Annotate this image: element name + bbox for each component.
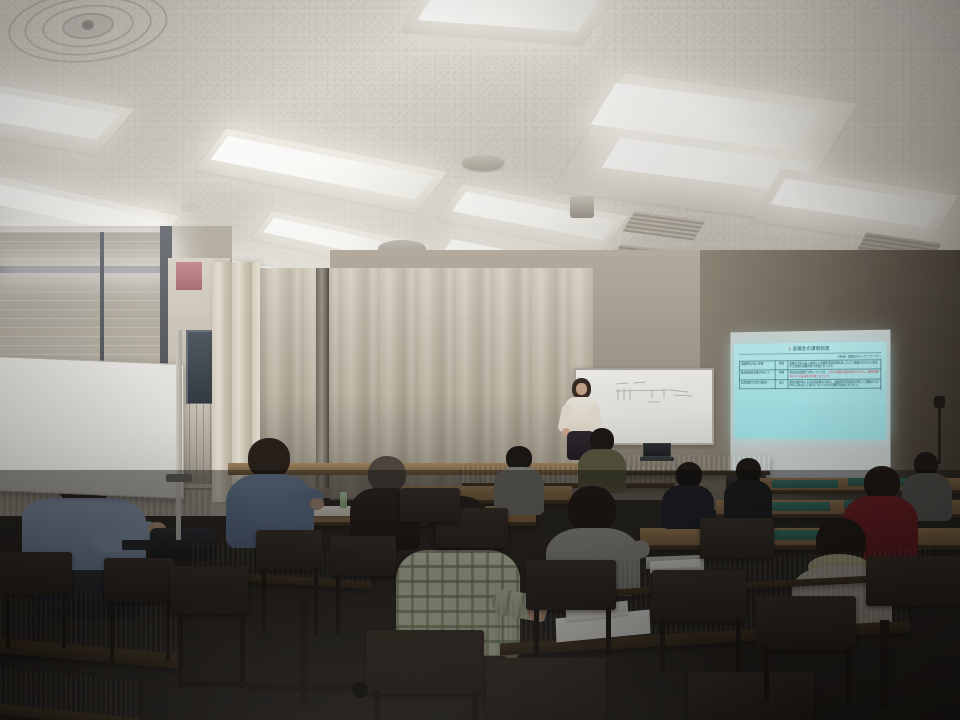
presentation-slide: 1 退職金の課税制度 （参考）国税庁タックスアンサー 退職所得の収入金額 原則 …	[734, 342, 886, 440]
whiteboard-handwriting	[612, 378, 707, 408]
microphone-icon	[934, 396, 945, 408]
seminar-room-photo: 1 退職金の課税制度 （参考）国税庁タックスアンサー 退職所得の収入金額 原則 …	[0, 0, 960, 720]
slide-page-number: 7	[739, 389, 881, 393]
exterior-shutter	[176, 262, 202, 290]
presenter-face	[576, 383, 587, 395]
slide-cell-tag: 改正	[775, 380, 788, 389]
slide-table: 退職所得の収入金額 原則 退職手当等の収入金額から退職所得控除額を差し引いた残額…	[739, 359, 881, 389]
window-frame	[0, 266, 172, 273]
slide-cell-label: 役員等勤続年数が5年以下	[739, 370, 775, 380]
slide-cell-body: 特定役員退職手当等については、 2分の1課税の適用はありません。勤続年数5年以下…	[788, 369, 881, 379]
slide-cell-label: 退職所得の収入金額	[739, 361, 775, 371]
slide-cell-tag: 特例	[775, 370, 788, 380]
slide-cell-tag: 原則	[775, 361, 788, 371]
panel-stand-pole	[176, 330, 182, 480]
slide-title-text: 退職金の課税制度	[793, 346, 830, 351]
laptop-base	[640, 457, 674, 461]
slide-title: 1 退職金の課税制度	[739, 345, 881, 355]
slide-cell-body: 勤続年数5年以下の短期退職手当等は、退職所得控除額を控除した残額のうち300万円…	[788, 379, 881, 389]
laptop-screen	[643, 443, 671, 457]
slide-cell-label: 短期退職手当等の取扱い	[739, 380, 775, 390]
slide-title-mark: 1	[788, 346, 791, 351]
window-upper	[0, 232, 166, 266]
floor-shading	[0, 470, 960, 720]
slide-table-row: 短期退職手当等の取扱い 改正 勤続年数5年以下の短期退職手当等は、退職所得控除額…	[739, 379, 880, 389]
laptop	[640, 443, 674, 461]
